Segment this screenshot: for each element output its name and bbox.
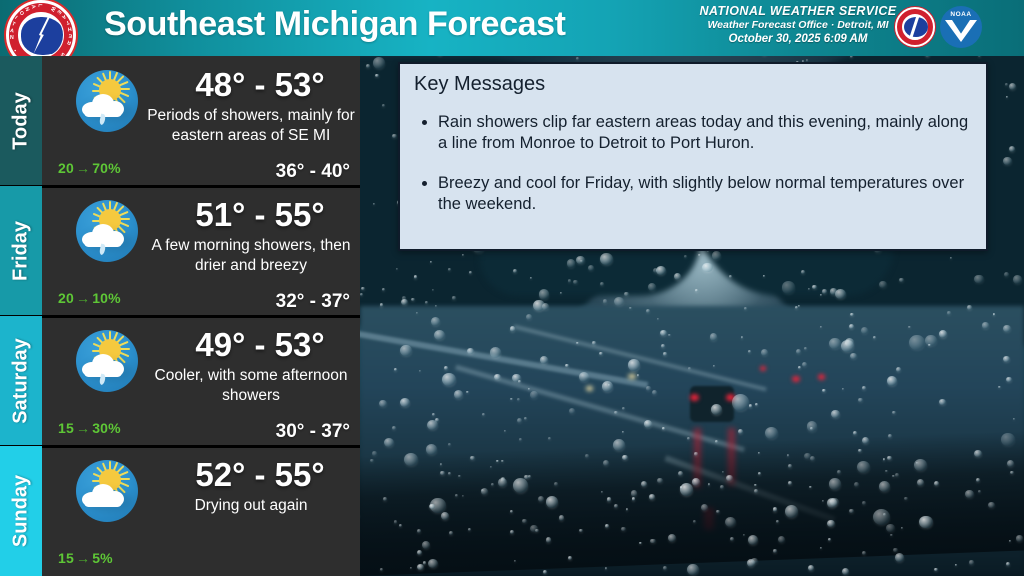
pop-start: 15 xyxy=(58,550,74,566)
forecast-row-body: 20→10%51° - 55°A few morning showers, th… xyxy=(42,186,360,316)
overnight-low-range: 30° - 37° xyxy=(276,421,350,443)
pop-end: 5% xyxy=(92,550,113,566)
pop-start: 20 xyxy=(58,290,74,306)
pop-end: 30% xyxy=(92,420,121,436)
sun-behind-cloud-icon xyxy=(76,460,138,522)
sun-behind-rain-cloud-icon xyxy=(76,330,138,392)
day-tab-today[interactable]: Today xyxy=(0,56,42,186)
pop-end: 70% xyxy=(92,160,121,176)
raindrop-icon xyxy=(99,114,106,126)
raindrop-icon xyxy=(99,374,106,386)
forecast-description: Cooler, with some afternoon showers xyxy=(142,366,360,406)
pop-arrow-icon: → xyxy=(74,550,92,566)
overnight-low-range: 36° - 40° xyxy=(276,161,350,183)
pop-arrow-icon: → xyxy=(74,420,92,436)
pop-start: 15 xyxy=(58,420,74,436)
raindrop-icon xyxy=(99,244,106,256)
day-label: Saturday xyxy=(10,338,33,424)
key-messages-title: Key Messages xyxy=(414,73,545,96)
forecast-panel: Today20→70%48° - 53°Periods of showers, … xyxy=(0,56,360,576)
day-label: Sunday xyxy=(10,475,33,547)
pop-arrow-icon: → xyxy=(74,290,92,306)
page-title: Southeast Michigan Forecast xyxy=(104,5,566,44)
precip-probability: 20→70% xyxy=(58,160,121,176)
key-messages-panel: Key Messages Rain showers clip far easte… xyxy=(398,62,988,251)
agency-name: NATIONAL WEATHER SERVICE xyxy=(668,3,928,19)
precip-probability: 15→5% xyxy=(58,550,113,566)
day-label: Friday xyxy=(10,221,33,281)
day-label: Today xyxy=(10,92,33,149)
cloud-icon xyxy=(82,352,124,376)
sun-behind-rain-cloud-icon xyxy=(76,70,138,132)
pop-end: 10% xyxy=(92,290,121,306)
office-name: Weather Forecast Office · Detroit, MI xyxy=(668,19,928,32)
header-agency-block: NATIONAL WEATHER SERVICE Weather Forecas… xyxy=(668,3,928,47)
precip-probability: 15→30% xyxy=(58,420,121,436)
high-temperature-range: 51° - 55° xyxy=(160,196,360,234)
noaa-logo-icon: NOAA xyxy=(940,6,982,48)
overnight-low-range: 32° - 37° xyxy=(276,291,350,313)
forecast-row-body: 15→5%52° - 55°Drying out again xyxy=(42,446,360,576)
issued-timestamp: October 30, 2025 6:09 AM xyxy=(668,32,928,47)
sun-behind-rain-cloud-icon xyxy=(76,200,138,262)
high-temperature-range: 49° - 53° xyxy=(160,326,360,364)
forecast-row: Sunday15→5%52° - 55°Drying out again xyxy=(0,446,360,576)
forecast-description: Periods of showers, mainly for eastern a… xyxy=(142,106,360,146)
cloud-icon xyxy=(82,222,124,246)
header-bar: Southeast Michigan Forecast NATIONAL WEA… xyxy=(0,0,1024,56)
precip-probability: 20→10% xyxy=(58,290,121,306)
high-temperature-range: 48° - 53° xyxy=(160,66,360,104)
pop-start: 20 xyxy=(58,160,74,176)
forecast-description: A few morning showers, then drier and br… xyxy=(142,236,360,276)
key-messages-list: Rain showers clip far eastern areas toda… xyxy=(416,112,974,234)
day-tab-saturday[interactable]: Saturday xyxy=(0,316,42,446)
cloud-icon xyxy=(82,92,124,116)
forecast-graphic: Southeast Michigan Forecast NATIONAL WEA… xyxy=(0,0,1024,576)
forecast-description: Drying out again xyxy=(142,496,360,516)
nws-seal-icon-small xyxy=(894,6,936,48)
pop-arrow-icon: → xyxy=(74,160,92,176)
forecast-row-body: 15→30%49° - 53°Cooler, with some afterno… xyxy=(42,316,360,446)
forecast-row: Friday20→10%51° - 55°A few morning showe… xyxy=(0,186,360,316)
noaa-label: NOAA xyxy=(940,11,982,18)
key-message-item: Breezy and cool for Friday, with slightl… xyxy=(438,173,974,216)
forecast-row-body: 20→70%48° - 53°Periods of showers, mainl… xyxy=(42,56,360,186)
forecast-row: Saturday15→30%49° - 53°Cooler, with some… xyxy=(0,316,360,446)
forecast-row: Today20→70%48° - 53°Periods of showers, … xyxy=(0,56,360,186)
cloud-icon xyxy=(82,482,124,506)
day-tab-friday[interactable]: Friday xyxy=(0,186,42,316)
day-tab-sunday[interactable]: Sunday xyxy=(0,446,42,576)
noaa-bird-glyph xyxy=(945,20,977,42)
key-message-item: Rain showers clip far eastern areas toda… xyxy=(438,112,974,155)
high-temperature-range: 52° - 55° xyxy=(160,456,360,494)
